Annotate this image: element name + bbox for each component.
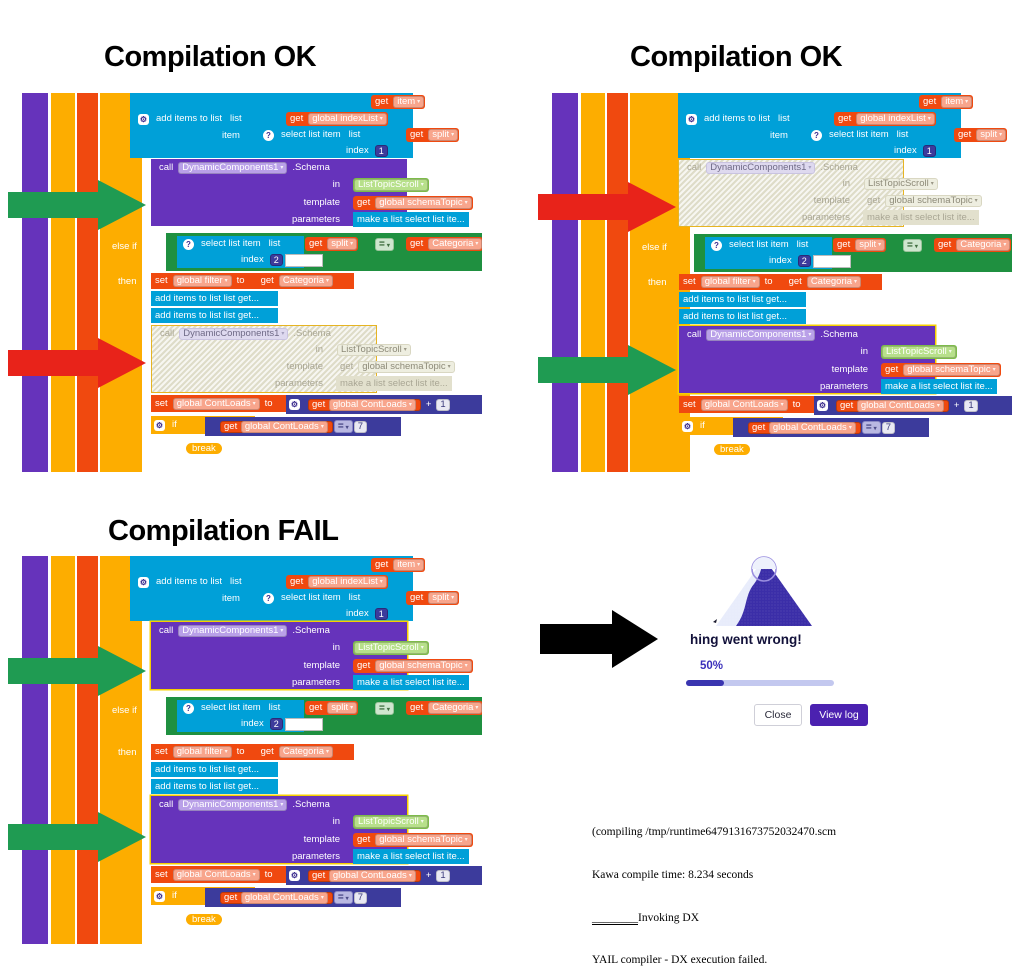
get-label: get — [371, 97, 392, 107]
block-get-global-indexlist[interactable]: get global indexList▾ — [286, 112, 388, 126]
row-call-header-disabled: call DynamicComponents1▾ .Schema — [156, 327, 335, 341]
block-get-item[interactable]: get item▾ — [371, 95, 425, 109]
value-global-filter[interactable]: global filter▾ — [173, 746, 232, 758]
chevron-down-icon: ▾ — [380, 576, 383, 588]
label-then-1: then — [644, 276, 671, 290]
block-list-topic-scroll[interactable]: ListTopicScroll▾ — [353, 178, 429, 192]
row-item-socket: item — [766, 128, 792, 144]
chevron-down-icon: ▾ — [878, 239, 881, 251]
value-listtopicscroll[interactable]: ListTopicScroll▾ — [354, 816, 428, 828]
chevron-down-icon: ▾ — [465, 834, 468, 846]
operator-equals[interactable]: =▾ — [375, 701, 394, 715]
block-select-list-item-inner[interactable]: ? select list item list — [808, 127, 912, 143]
get-label: get — [257, 276, 278, 286]
row-index: index 1 — [342, 144, 390, 158]
block-list-topic-scroll[interactable]: ListTopicScroll▾ — [881, 345, 957, 359]
schema-suffix: .Schema — [288, 163, 334, 173]
label-in: in — [790, 345, 875, 359]
block-select-list-item-inner[interactable]: ? select list item list — [260, 127, 364, 143]
chevron-down-icon: ▾ — [346, 425, 349, 431]
label-template-disabled: template — [252, 360, 330, 374]
log-line-3-prefix: ________ — [592, 912, 638, 925]
panel1-title: Compilation OK — [104, 41, 316, 74]
value-global-schematopic[interactable]: global schemaTopic▾ — [375, 197, 471, 209]
label-else-if: else if — [108, 240, 141, 254]
gear-icon[interactable]: ⚙ — [154, 420, 165, 431]
block-add-items-short-2[interactable]: add items to list list get... — [151, 308, 278, 323]
block-get-global-schematopic[interactable]: get global schemaTopic▾ — [353, 659, 473, 673]
row-index: index 1 — [342, 607, 390, 621]
operator-equals-2[interactable]: =▾ — [334, 420, 353, 433]
value-categoria[interactable]: Categoria▾ — [279, 746, 333, 758]
block-break[interactable]: break — [185, 912, 223, 926]
get-label: get — [305, 239, 326, 249]
value-dynamiccomponents1[interactable]: DynamicComponents1▾ — [706, 162, 815, 174]
block-get-item[interactable]: get item▾ — [371, 558, 425, 572]
stripe-purple — [22, 556, 48, 944]
label-in: in — [262, 641, 347, 655]
plus-operator: + — [950, 401, 964, 411]
value-dynamiccomponents1[interactable]: DynamicComponents1▾ — [178, 799, 287, 811]
row-call-header-disabled: call DynamicComponents1▾ .Schema — [683, 161, 862, 175]
view-log-button[interactable]: View log — [810, 704, 868, 726]
plus-operator: + — [422, 871, 436, 881]
value-categoria[interactable]: Categoria▾ — [956, 239, 1010, 251]
gear-icon[interactable]: ⚙ — [154, 891, 165, 902]
block-list-topic-scroll[interactable]: ListTopicScroll▾ — [353, 641, 429, 655]
chevron-down-icon: ▾ — [874, 426, 877, 432]
block-make-a-list[interactable]: make a list select list ite... — [881, 379, 997, 394]
label-parameters-2: parameters — [262, 850, 347, 864]
value-one[interactable]: 1 — [923, 145, 936, 157]
block-get-global-contloads[interactable]: get global ContLoads▾ — [836, 400, 949, 412]
blockly-canvas-panel1[interactable]: get item▾ ⚙ add items to list list get g… — [22, 93, 482, 472]
value-dynamiccomponents1[interactable]: DynamicComponents1▾ — [179, 328, 288, 340]
stripe-redorange — [77, 556, 98, 944]
label-else-if: else if — [638, 241, 671, 255]
arrow-green-panel2 — [538, 345, 678, 395]
panel2-title: Compilation OK — [630, 41, 842, 74]
block-make-a-list[interactable]: make a list select list ite... — [353, 675, 469, 690]
help-icon[interactable]: ? — [183, 703, 194, 714]
chevron-down-icon: ▾ — [928, 113, 931, 125]
empty-socket-field[interactable] — [813, 255, 851, 268]
row-item-socket: item — [218, 128, 244, 144]
value-seven[interactable]: 7 — [882, 422, 895, 434]
chevron-down-icon: ▾ — [949, 346, 952, 358]
row-add-items: ⚙ add items to list list — [135, 111, 246, 127]
block-add-items-short-1[interactable]: add items to list list get... — [151, 762, 278, 777]
help-icon[interactable]: ? — [711, 240, 722, 251]
value-global-schematopic[interactable]: global schemaTopic▾ — [903, 364, 999, 376]
row-index-2: index 2 — [237, 253, 323, 267]
block-compare-contloads[interactable]: get global ContLoads▾ =▾ 7 — [205, 888, 401, 907]
block-list-topic-scroll-2[interactable]: ListTopicScroll▾ — [353, 815, 429, 829]
chevron-down-icon: ▾ — [417, 96, 420, 108]
row-call-header: call DynamicComponents1▾ .Schema — [155, 161, 334, 175]
list-socket-label: list — [226, 114, 246, 124]
value-dynamiccomponents1[interactable]: DynamicComponents1▾ — [706, 329, 815, 341]
label-parameters-disabled: parameters — [779, 211, 857, 225]
chevron-down-icon: ▾ — [321, 892, 324, 904]
index-label: index — [342, 146, 373, 156]
block-get-split-2[interactable]: get split▾ — [833, 238, 886, 252]
block-get-split[interactable]: get split▾ — [954, 128, 1007, 142]
value-one[interactable]: 1 — [436, 870, 449, 882]
chevron-down-icon: ▾ — [465, 197, 468, 209]
get-label: get — [406, 239, 427, 249]
chevron-down-icon: ▾ — [448, 361, 451, 373]
value-categoria[interactable]: Categoria▾ — [279, 275, 333, 287]
block-add-items-short-1[interactable]: add items to list list get... — [679, 292, 806, 307]
panel3-title: Compilation FAIL — [108, 515, 338, 548]
chevron-down-icon: ▾ — [849, 422, 852, 434]
chevron-down-icon: ▾ — [965, 96, 968, 108]
add-items-label: add items to list — [152, 114, 226, 124]
mountain-illustration-icon — [708, 556, 820, 628]
label-in: in — [262, 178, 347, 192]
value-global-schematopic[interactable]: global schemaTopic▾ — [375, 834, 471, 846]
empty-socket-field[interactable] — [285, 718, 323, 731]
value-one[interactable]: 1 — [964, 400, 977, 412]
chevron-down-icon: ▾ — [931, 178, 934, 190]
value-categoria[interactable]: Categoria▾ — [428, 702, 482, 714]
screenshot-root: Compilation OK Compilation OK Compilatio… — [0, 0, 1024, 968]
label-else-if: else if — [108, 704, 141, 718]
block-list-topic-scroll-disabled[interactable]: ListTopicScroll▾ — [336, 343, 412, 357]
compile-log: (compiling /tmp/runtime64791316737520324… — [592, 797, 836, 968]
chevron-down-icon: ▾ — [451, 592, 454, 604]
row-call-header-2: call DynamicComponents1▾ .Schema — [155, 798, 334, 812]
chevron-down-icon: ▾ — [387, 243, 390, 249]
chevron-down-icon: ▾ — [409, 399, 412, 411]
row-add-items: ⚙ add items to list list — [683, 111, 794, 127]
value-one[interactable]: 1 — [436, 399, 449, 411]
stripe-purple — [22, 93, 48, 472]
chevron-down-icon: ▾ — [346, 896, 349, 902]
value-item[interactable]: item▾ — [393, 559, 424, 571]
chevron-down-icon: ▾ — [387, 707, 390, 713]
chevron-down-icon: ▾ — [808, 329, 811, 341]
block-make-a-list-2[interactable]: make a list select list ite... — [353, 849, 469, 864]
chevron-down-icon: ▾ — [321, 421, 324, 433]
value-global-contloads[interactable]: global ContLoads▾ — [173, 869, 260, 881]
label-then-2: then — [158, 912, 185, 926]
block-get-split[interactable]: get split▾ — [406, 591, 459, 605]
chevron-down-icon: ▾ — [281, 328, 284, 340]
value-one[interactable]: 1 — [375, 608, 388, 620]
row-select-list-item-2: ? select list item list — [708, 238, 812, 252]
block-get-global-contloads[interactable]: get global ContLoads▾ — [308, 870, 421, 882]
stripe-redorange — [607, 93, 628, 472]
gear-icon[interactable]: ⚙ — [138, 577, 149, 588]
value-two[interactable]: 2 — [270, 718, 283, 730]
block-get-global-indexlist[interactable]: get global indexList▾ — [834, 112, 936, 126]
chevron-down-icon: ▾ — [421, 816, 424, 828]
arrow-green-panel1 — [8, 180, 148, 230]
block-get-global-schematopic-disabled[interactable]: get global schemaTopic▾ — [336, 360, 456, 374]
help-icon[interactable]: ? — [183, 239, 194, 250]
list-socket-label: list — [345, 130, 365, 140]
log-line-2: Kawa compile time: 8.234 seconds — [592, 868, 836, 882]
operator-equals[interactable]: =▾ — [903, 238, 922, 252]
value-global-contloads[interactable]: global ContLoads▾ — [173, 398, 260, 410]
chevron-down-icon: ▾ — [326, 746, 329, 758]
block-set-global-filter[interactable]: set global filter▾ to get Categoria▾ — [151, 273, 354, 289]
chevron-down-icon: ▾ — [280, 162, 283, 174]
value-dynamiccomponents1[interactable]: DynamicComponents1▾ — [178, 625, 287, 637]
chevron-down-icon: ▾ — [915, 244, 918, 250]
compile-error-dialog: hing went wrong! 50% Close View log — [668, 556, 888, 736]
log-line-1: (compiling /tmp/runtime64791316737520324… — [592, 825, 836, 839]
row-select-list-item-2: ? select list item list — [180, 237, 284, 251]
chevron-down-icon: ▾ — [475, 702, 478, 714]
label-parameters: parameters — [262, 213, 347, 227]
get-label: get — [406, 130, 427, 140]
stripe-orange-1 — [581, 93, 605, 472]
chevron-down-icon: ▾ — [854, 276, 857, 288]
value-split[interactable]: split▾ — [327, 238, 357, 250]
label-then-2: then — [686, 442, 713, 456]
block-make-a-list[interactable]: make a list select list ite... — [353, 212, 469, 227]
block-get-categoria[interactable]: get Categoria▾ — [406, 701, 482, 715]
row-index-2: index 2 — [237, 717, 323, 731]
label-in-disabled: in — [779, 177, 857, 191]
chevron-down-icon: ▾ — [451, 129, 454, 141]
label-template: template — [262, 659, 347, 673]
value-split[interactable]: split▾ — [428, 129, 458, 141]
chevron-down-icon: ▾ — [350, 238, 353, 250]
chevron-down-icon: ▾ — [380, 113, 383, 125]
block-break[interactable]: break — [713, 442, 751, 456]
arrow-green-panel3-top — [8, 646, 148, 696]
block-add-items-short-1[interactable]: add items to list list get... — [151, 291, 278, 306]
to-label: to — [233, 276, 249, 286]
block-get-global-contloads[interactable]: get global ContLoads▾ — [308, 399, 421, 411]
chevron-down-icon: ▾ — [475, 238, 478, 250]
chevron-down-icon: ▾ — [753, 276, 756, 288]
set-label: set — [151, 276, 172, 286]
chevron-down-icon: ▾ — [350, 702, 353, 714]
chevron-down-icon: ▾ — [225, 746, 228, 758]
value-split[interactable]: split▾ — [428, 592, 458, 604]
label-parameters-disabled: parameters — [252, 377, 330, 391]
stripe-redorange — [77, 93, 98, 472]
stripe-orange-1 — [51, 556, 75, 944]
row-call-header: call DynamicComponents1▾ .Schema — [683, 328, 862, 342]
block-set-global-filter[interactable]: set global filter▾ to get Categoria▾ — [151, 744, 354, 760]
block-get-global-contloads-2[interactable]: get global ContLoads▾ — [748, 422, 861, 434]
item-socket-label: item — [218, 131, 244, 141]
label-then-1: then — [114, 275, 141, 289]
row-select-list-item-2: ? select list item list — [180, 701, 284, 715]
block-get-global-schematopic-disabled[interactable]: get global schemaTopic▾ — [863, 194, 983, 208]
plus-operator: + — [422, 400, 436, 410]
block-get-global-schematopic-2[interactable]: get global schemaTopic▾ — [353, 833, 473, 847]
value-listtopicscroll[interactable]: ListTopicScroll▾ — [354, 179, 428, 191]
block-get-global-schematopic[interactable]: get global schemaTopic▾ — [353, 196, 473, 210]
block-list-topic-scroll-disabled[interactable]: ListTopicScroll▾ — [863, 177, 939, 191]
row-index-2: index 2 — [765, 254, 851, 268]
value-global-indexlist[interactable]: global indexList▾ — [856, 113, 935, 125]
stripe-purple — [552, 93, 578, 472]
block-get-item[interactable]: get item▾ — [919, 95, 973, 109]
label-in-disabled: in — [252, 343, 330, 357]
row-index: index 1 — [890, 144, 938, 158]
operator-equals-2[interactable]: =▾ — [334, 891, 353, 904]
value-categoria[interactable]: Categoria▾ — [428, 238, 482, 250]
get-label: get — [353, 198, 374, 208]
gear-icon[interactable]: ⚙ — [817, 400, 828, 411]
log-line-3: ________Invoking DX — [592, 911, 836, 925]
chevron-down-icon: ▾ — [993, 364, 996, 376]
block-addition[interactable]: ⚙ get global ContLoads▾ + 1 — [286, 395, 482, 414]
empty-socket-field[interactable] — [285, 254, 323, 267]
value-split[interactable]: split▾ — [327, 702, 357, 714]
chevron-down-icon: ▾ — [326, 275, 329, 287]
block-compare-contloads[interactable]: get global ContLoads▾ =▾ 7 — [205, 417, 401, 436]
value-seven[interactable]: 7 — [354, 892, 367, 904]
chevron-down-icon: ▾ — [417, 559, 420, 571]
block-make-a-list-disabled[interactable]: make a list select list ite... — [863, 210, 979, 225]
value-split[interactable]: split▾ — [855, 239, 885, 251]
arrow-red-panel2 — [538, 182, 678, 232]
log-line-4: YAIL compiler - DX execution failed. — [592, 953, 836, 967]
gear-icon[interactable]: ⚙ — [138, 114, 149, 125]
help-icon[interactable]: ? — [263, 593, 274, 604]
value-dynamiccomponents1[interactable]: DynamicComponents1▾ — [178, 162, 287, 174]
value-one[interactable]: 1 — [375, 145, 388, 157]
chevron-down-icon: ▾ — [465, 660, 468, 672]
chevron-down-icon: ▾ — [280, 625, 283, 637]
call-label: call — [155, 163, 177, 173]
value-global-indexlist[interactable]: global indexList▾ — [308, 113, 387, 125]
chevron-down-icon: ▾ — [225, 275, 228, 287]
operator-equals[interactable]: =▾ — [375, 237, 394, 251]
help-icon[interactable]: ? — [263, 130, 274, 141]
chevron-down-icon: ▾ — [999, 129, 1002, 141]
chevron-down-icon: ▾ — [808, 162, 811, 174]
chevron-down-icon: ▾ — [280, 799, 283, 811]
chevron-down-icon: ▾ — [404, 344, 407, 356]
arrow-green-panel3-bottom — [8, 812, 148, 862]
arrow-black-dialog — [540, 610, 660, 668]
chevron-down-icon: ▾ — [937, 400, 940, 412]
label-parameters: parameters — [262, 676, 347, 690]
block-get-categoria[interactable]: get Categoria▾ — [406, 237, 482, 251]
row-item-socket: item — [218, 591, 244, 607]
block-get-split-2[interactable]: get split▾ — [305, 237, 358, 251]
blockly-canvas-panel3[interactable]: get item▾ ⚙ add items to list list get g… — [22, 556, 482, 944]
label-parameters: parameters — [790, 380, 875, 394]
close-button[interactable]: Close — [754, 704, 802, 726]
block-get-global-schematopic[interactable]: get global schemaTopic▾ — [881, 363, 1001, 377]
chevron-down-icon: ▾ — [781, 399, 784, 411]
value-two[interactable]: 2 — [270, 254, 283, 266]
get-label: get — [286, 114, 307, 124]
label-then-1: then — [114, 746, 141, 760]
block-make-a-list-disabled[interactable]: make a list select list ite... — [336, 376, 452, 391]
block-add-items-short-2[interactable]: add items to list list get... — [679, 309, 806, 324]
block-get-global-contloads-2[interactable]: get global ContLoads▾ — [220, 421, 333, 433]
value-item[interactable]: item▾ — [941, 96, 972, 108]
progress-percent-label: 50% — [700, 660, 723, 672]
block-get-global-indexlist[interactable]: get global indexList▾ — [286, 575, 388, 589]
label-then-2: then — [158, 441, 185, 455]
value-listtopicscroll[interactable]: ListTopicScroll▾ — [882, 346, 956, 358]
block-select-list-item-inner[interactable]: ? select list item list — [260, 590, 364, 606]
label-template-disabled: template — [779, 194, 857, 208]
value-seven[interactable]: 7 — [354, 421, 367, 433]
value-global-contloads[interactable]: global ContLoads▾ — [701, 399, 788, 411]
gear-icon[interactable]: ⚙ — [682, 421, 693, 432]
chevron-down-icon: ▾ — [421, 642, 424, 654]
gear-icon[interactable]: ⚙ — [686, 114, 697, 125]
value-item[interactable]: item▾ — [393, 96, 424, 108]
help-icon[interactable]: ? — [811, 130, 822, 141]
block-get-global-contloads-2[interactable]: get global ContLoads▾ — [220, 892, 333, 904]
value-two[interactable]: 2 — [798, 255, 811, 267]
block-set-global-filter[interactable]: set global filter▾ to get Categoria▾ — [679, 274, 882, 290]
gear-icon[interactable]: ⚙ — [289, 399, 300, 410]
chevron-down-icon: ▾ — [1003, 239, 1006, 251]
row-call-header: call DynamicComponents1▾ .Schema — [155, 624, 334, 638]
block-get-split-2[interactable]: get split▾ — [305, 701, 358, 715]
label-in-2: in — [262, 815, 347, 829]
arrow-red-panel1 — [8, 338, 148, 388]
block-compare-contloads[interactable]: get global ContLoads▾ =▾ 7 — [733, 418, 929, 437]
log-line-3-text: Invoking DX — [638, 912, 699, 924]
block-get-split[interactable]: get split▾ — [406, 128, 459, 142]
value-global-filter[interactable]: global filter▾ — [173, 275, 232, 287]
value-split[interactable]: split▾ — [976, 129, 1006, 141]
label-template: template — [790, 363, 875, 377]
gear-icon[interactable]: ⚙ — [289, 870, 300, 881]
row-add-items: ⚙ add items to list list — [135, 574, 246, 590]
chevron-down-icon: ▾ — [975, 195, 978, 207]
progress-bar-fill — [686, 680, 724, 686]
progress-bar-track — [686, 680, 834, 686]
chevron-down-icon: ▾ — [253, 869, 256, 881]
block-add-items-short-2[interactable]: add items to list list get... — [151, 779, 278, 794]
block-break[interactable]: break — [185, 441, 223, 455]
value-global-schematopic[interactable]: global schemaTopic▾ — [375, 660, 471, 672]
label-template: template — [262, 196, 347, 210]
value-listtopicscroll[interactable]: ListTopicScroll▾ — [354, 642, 428, 654]
value-categoria[interactable]: Categoria▾ — [807, 276, 861, 288]
dialog-message: hing went wrong! — [690, 632, 802, 647]
select-list-item-label: select list item — [277, 130, 345, 140]
value-global-indexlist[interactable]: global indexList▾ — [308, 576, 387, 588]
value-global-filter[interactable]: global filter▾ — [701, 276, 760, 288]
operator-equals-2[interactable]: =▾ — [862, 421, 881, 434]
blockly-canvas-panel2[interactable]: get item▾ ⚙ add items to list list get g… — [552, 93, 1012, 472]
chevron-down-icon: ▾ — [253, 398, 256, 410]
block-get-categoria[interactable]: get Categoria▾ — [934, 238, 1011, 252]
block-addition[interactable]: ⚙ get global ContLoads▾ + 1 — [286, 866, 482, 885]
chevron-down-icon: ▾ — [421, 179, 424, 191]
label-template-2: template — [262, 833, 347, 847]
stripe-orange-1 — [51, 93, 75, 472]
chevron-down-icon: ▾ — [409, 870, 412, 882]
block-addition[interactable]: ⚙ get global ContLoads▾ + 1 — [814, 396, 1012, 415]
